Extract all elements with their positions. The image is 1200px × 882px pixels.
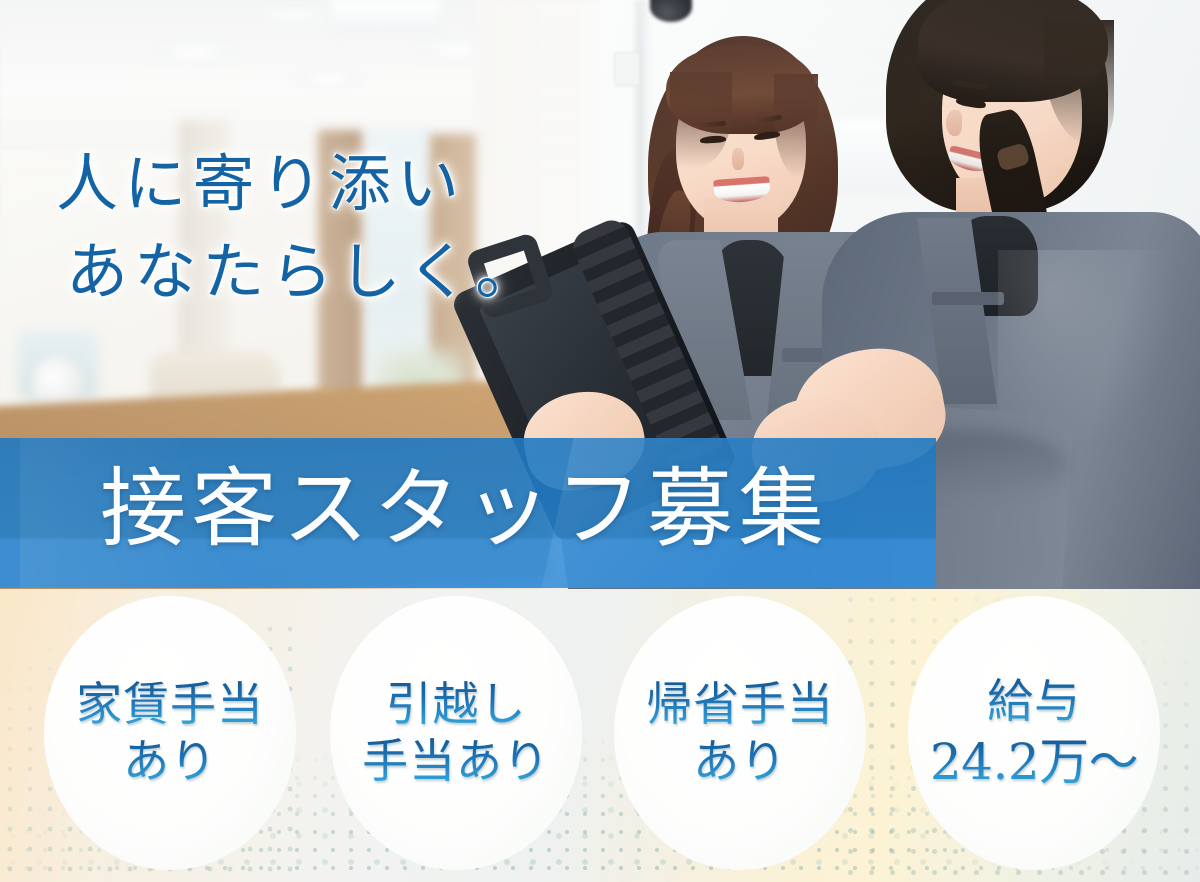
downlight-icon — [290, 68, 366, 90]
downlight-icon — [150, 40, 240, 66]
chest-pocket — [932, 292, 1004, 305]
page-title: 人に寄り添い あなたらしく。 — [56, 140, 543, 316]
banner-title: 接客スタッフ募集 — [100, 454, 829, 566]
poster-canvas: 人に寄り添い あなたらしく。 接客スタッフ募集 家賃手当 あり 引越し 手当あり… — [0, 0, 1200, 882]
benefit-bubble-salary: 給与 24.2万〜 — [908, 596, 1160, 870]
benefit-line-2: 手当あり — [362, 733, 550, 790]
benefits-strip: 家賃手当 あり 引越し 手当あり 帰省手当 あり 給与 24.2万〜 — [0, 589, 1200, 882]
benefit-line-1: 帰省手当 — [646, 676, 834, 733]
benefit-bubble-homecoming-allowance: 帰省手当 あり — [614, 596, 866, 870]
benefit-bubble-rent-allowance: 家賃手当 あり — [44, 596, 296, 870]
headline-line-2: あなたらしく。 — [56, 228, 543, 316]
benefit-line-2: あり — [123, 733, 217, 790]
benefit-line-2: 24.2万〜 — [930, 731, 1138, 793]
nose — [946, 110, 962, 136]
benefit-line-1: 家賃手当 — [76, 676, 264, 733]
nose — [732, 148, 744, 170]
downlight-icon — [258, 6, 328, 24]
skylight — [332, 0, 440, 34]
benefit-line-1: 給与 — [987, 673, 1081, 730]
headline-line-1: 人に寄り添い — [56, 140, 543, 228]
benefit-line-2: あり — [693, 733, 787, 790]
benefit-line-1: 引越し — [386, 676, 527, 733]
benefit-bubble-moving-allowance: 引越し 手当あり — [330, 596, 582, 870]
recruitment-banner: 接客スタッフ募集 — [0, 438, 936, 588]
